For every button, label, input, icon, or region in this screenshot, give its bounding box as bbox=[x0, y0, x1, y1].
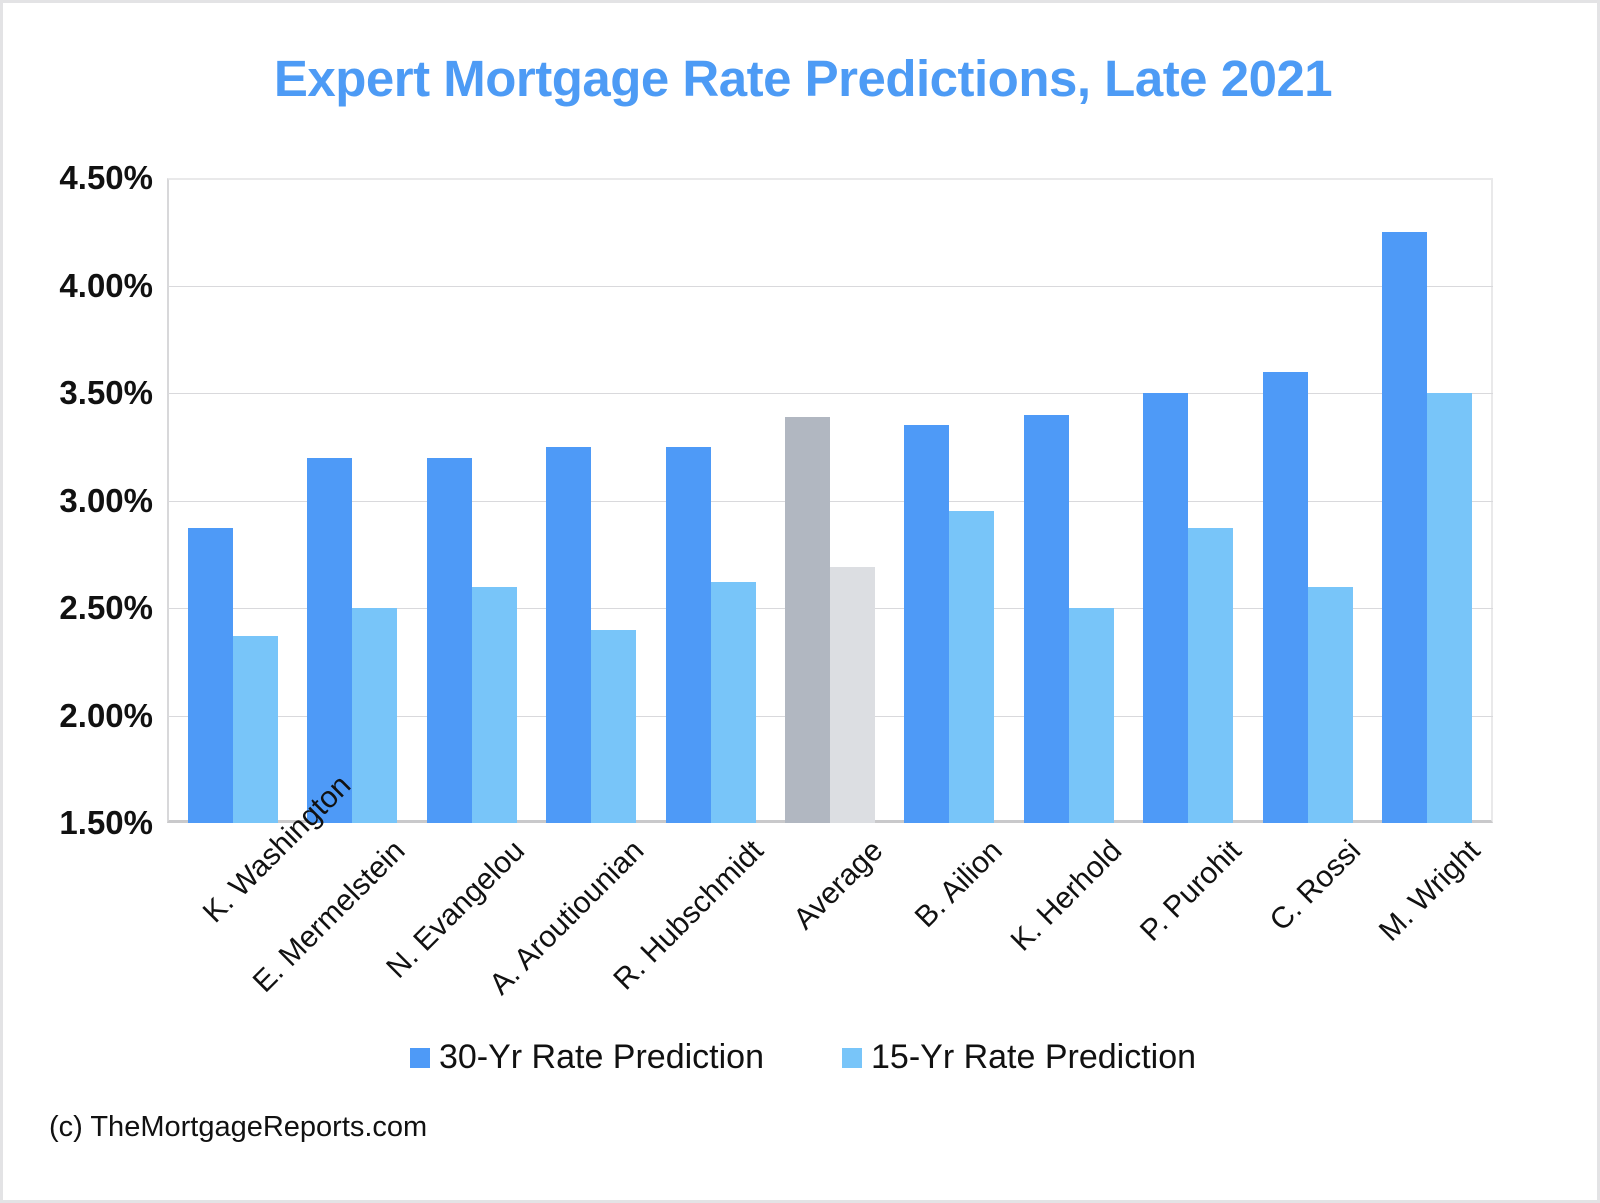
bar-15yr[interactable] bbox=[711, 582, 756, 823]
y-axis-tick-label: 2.00% bbox=[3, 697, 153, 735]
y-axis-tick-label: 4.00% bbox=[3, 267, 153, 305]
x-axis-labels: K. WashingtonE. MermelsteinN. EvangelouA… bbox=[167, 826, 1493, 1016]
bar-30yr[interactable] bbox=[1024, 415, 1069, 824]
bar-15yr[interactable] bbox=[472, 587, 517, 824]
chart-title: Expert Mortgage Rate Predictions, Late 2… bbox=[3, 49, 1600, 108]
bar-group bbox=[770, 178, 889, 823]
bar-15yr[interactable] bbox=[352, 608, 397, 823]
bar-15yr[interactable] bbox=[591, 630, 636, 824]
x-axis-tick-label: K. Washington bbox=[197, 834, 293, 930]
legend-label: 30-Yr Rate Prediction bbox=[439, 1038, 764, 1077]
bar-group bbox=[1009, 178, 1128, 823]
bar-15yr[interactable] bbox=[1308, 587, 1353, 824]
bar-group bbox=[173, 178, 292, 823]
bar-30yr[interactable] bbox=[1143, 393, 1188, 823]
bar-group bbox=[1129, 178, 1248, 823]
legend-label: 15-Yr Rate Prediction bbox=[871, 1038, 1196, 1077]
bar-30yr[interactable] bbox=[188, 528, 233, 823]
y-axis-tick-label: 1.50% bbox=[3, 804, 153, 842]
x-axis-tick-label: K. Herhold bbox=[442, 834, 1129, 1203]
legend-item[interactable]: 30-Yr Rate Prediction bbox=[410, 1038, 764, 1077]
bar-group bbox=[531, 178, 650, 823]
legend-swatch-icon bbox=[410, 1048, 430, 1068]
bar-15yr[interactable] bbox=[830, 567, 875, 823]
bar-30yr[interactable] bbox=[785, 417, 830, 823]
y-axis-tick-label: 4.50% bbox=[3, 159, 153, 197]
bar-30yr[interactable] bbox=[307, 458, 352, 824]
y-axis-tick-label: 2.50% bbox=[3, 589, 153, 627]
bar-group bbox=[1368, 178, 1487, 823]
bar-30yr[interactable] bbox=[904, 425, 949, 823]
y-axis-tick-label: 3.50% bbox=[3, 374, 153, 412]
legend-item[interactable]: 15-Yr Rate Prediction bbox=[842, 1038, 1196, 1077]
bar-30yr[interactable] bbox=[1263, 372, 1308, 824]
bar-30yr[interactable] bbox=[666, 447, 711, 823]
bar-30yr[interactable] bbox=[1382, 232, 1427, 823]
bar-group bbox=[651, 178, 770, 823]
bar-group bbox=[412, 178, 531, 823]
bar-30yr[interactable] bbox=[427, 458, 472, 824]
chart-legend: 30-Yr Rate Prediction15-Yr Rate Predicti… bbox=[3, 1038, 1600, 1077]
bar-15yr[interactable] bbox=[949, 511, 994, 823]
bar-15yr[interactable] bbox=[1427, 393, 1472, 823]
bar-group bbox=[890, 178, 1009, 823]
bar-15yr[interactable] bbox=[1188, 528, 1233, 823]
footer-credit: (c) TheMortgageReports.com bbox=[49, 1111, 427, 1144]
bar-group bbox=[292, 178, 411, 823]
bar-15yr[interactable] bbox=[233, 636, 278, 823]
plot-area bbox=[167, 178, 1493, 823]
bar-groups bbox=[167, 178, 1493, 823]
chart-figure: Expert Mortgage Rate Predictions, Late 2… bbox=[0, 0, 1600, 1203]
bar-group bbox=[1248, 178, 1367, 823]
y-axis-tick-label: 3.00% bbox=[3, 482, 153, 520]
legend-swatch-icon bbox=[842, 1048, 862, 1068]
bar-15yr[interactable] bbox=[1069, 608, 1114, 823]
bar-30yr[interactable] bbox=[546, 447, 591, 823]
